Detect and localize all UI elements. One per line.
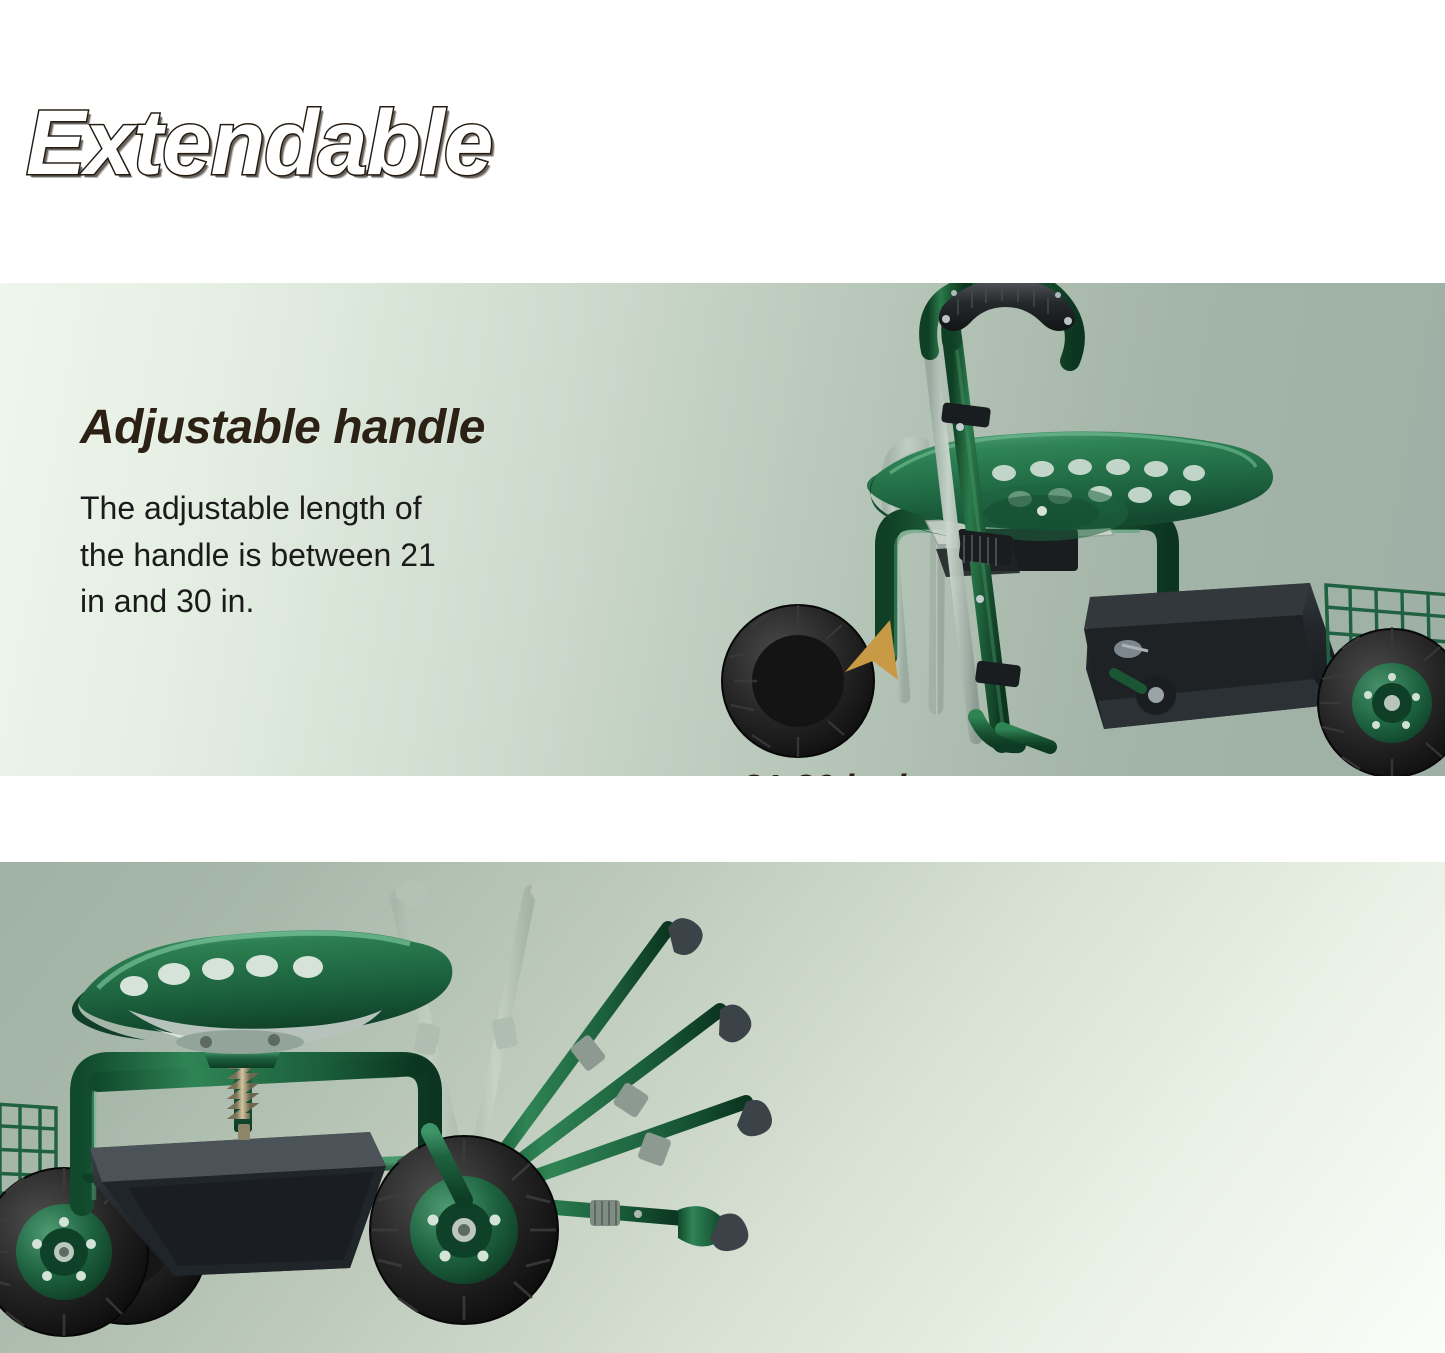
panel-rotatable-handle: The angle that the handle can rotate is … [0,862,1445,1353]
panel-divider [0,776,1445,862]
adjustable-text-block: Adjustable handle The adjustable length … [80,400,580,625]
adjustable-body: The adjustable length of the handle is b… [80,485,580,625]
arrow-up-icon [840,617,912,689]
utility-tray [1084,583,1338,729]
page-title-line-1: Extendable [26,98,1093,188]
front-wheel [1318,627,1445,776]
dimension-label: 21-30 inch [742,767,918,776]
product-image-adjustable-cart [690,283,1445,776]
tractor-seat-bottom [72,930,452,1054]
panel-adjustable-handle: Adjustable handle The adjustable length … [0,283,1445,776]
adjustable-heading: Adjustable handle [80,400,580,455]
seat-post [204,1048,280,1140]
steering-handle-loop [928,283,1075,361]
product-image-rotatable-cart [0,870,898,1350]
header-banner: Extendable Steering Handle [0,0,1445,283]
front-wheel-bottom [370,1136,558,1324]
